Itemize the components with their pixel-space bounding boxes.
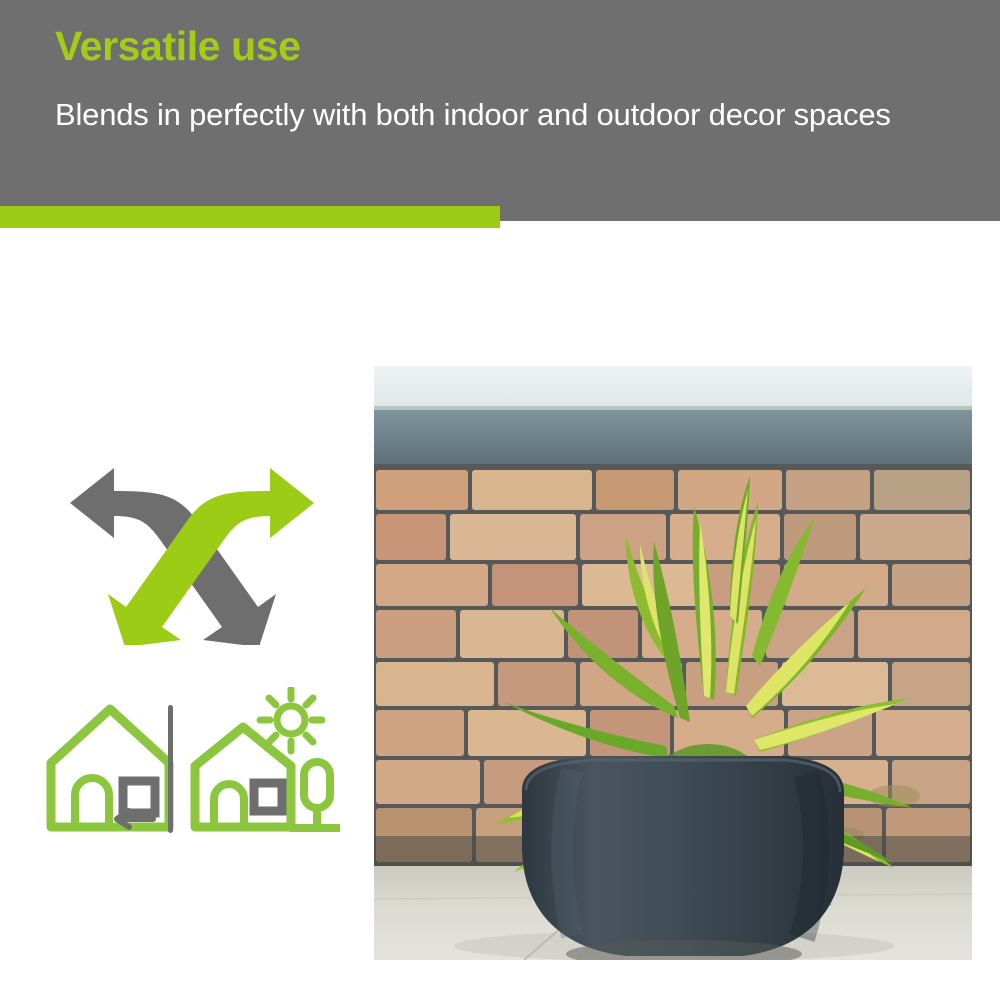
indoor-house-icon — [45, 687, 175, 837]
page-subtitle: Blends in perfectly with both indoor and… — [55, 93, 970, 137]
header-banner: Versatile use Blends in perfectly with b… — [0, 0, 1000, 221]
outdoor-house-sun-tree-icon — [190, 687, 340, 837]
header-accent-bar — [0, 206, 500, 228]
shuffle-arrows-icon — [62, 465, 322, 645]
feature-icon-column — [40, 465, 340, 845]
page-title: Versatile use — [55, 24, 301, 69]
icon-divider — [168, 705, 173, 833]
planter-lifestyle-photo — [374, 366, 972, 960]
indoor-outdoor-icon-row — [40, 687, 340, 837]
